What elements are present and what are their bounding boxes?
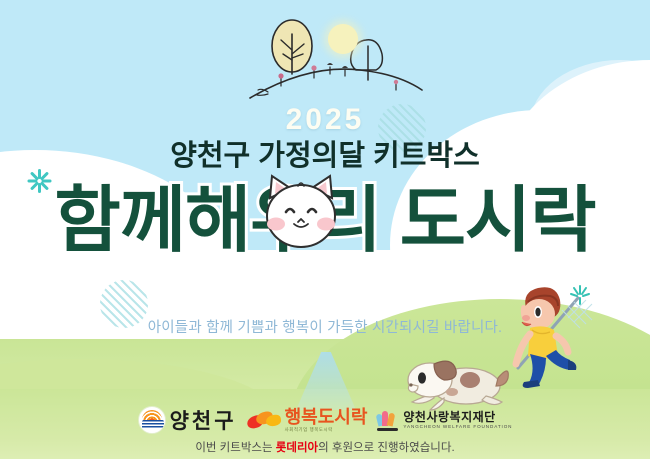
logo-row: 양천구 행복도시락 사회적기업 행복도시락 양천사랑복지재단 YANGCHEON…: [0, 403, 650, 437]
sun-icon: [328, 24, 358, 54]
footer: 양천구 행복도시락 사회적기업 행복도시락 양천사랑복지재단 YANGCHEON…: [0, 403, 650, 455]
sponsor-brand: 롯데리아: [276, 442, 318, 454]
trees-and-hill-svg: [248, 8, 424, 100]
logo-happy-dosirak-label: 행복도시락: [285, 408, 368, 426]
logo-happy-dosirak-sub: 사회적기업 행복도시락: [285, 427, 368, 433]
cat-character: [258, 168, 344, 256]
sponsor-line: 이번 키트박스는 롯데리아의 후원으로 진행하였습니다.: [0, 439, 650, 455]
logo-yangcheon-welfare[interactable]: 양천사랑복지재단 YANGCHEON WELFARE FOUNDATION: [377, 409, 512, 431]
logo-yangcheon-gu[interactable]: 양천구: [138, 405, 237, 435]
three-petal-mark-icon: [247, 410, 281, 430]
sponsor-prefix: 이번 키트박스는: [195, 442, 275, 454]
logo-yangcheon-welfare-label: 양천사랑복지재단: [403, 411, 512, 424]
poster-canvas: 2025 양천구 가정의달 키트박스 함께해우리 도시락 아이들과 함께 기쁨과…: [0, 0, 650, 459]
sun-water-emblem-icon: [138, 406, 166, 434]
logo-yangcheon-welfare-sub: YANGCHEON WELFARE FOUNDATION: [403, 424, 512, 429]
three-flame-mark-icon: [377, 409, 399, 431]
logo-yangcheon-gu-label: 양천구: [170, 405, 237, 435]
logo-happy-dosirak[interactable]: 행복도시락 사회적기업 행복도시락: [247, 408, 368, 433]
top-scenery: [248, 8, 424, 100]
boy-character: [512, 280, 602, 390]
sponsor-suffix: 의 후원으로 진행하였습니다.: [318, 442, 455, 454]
